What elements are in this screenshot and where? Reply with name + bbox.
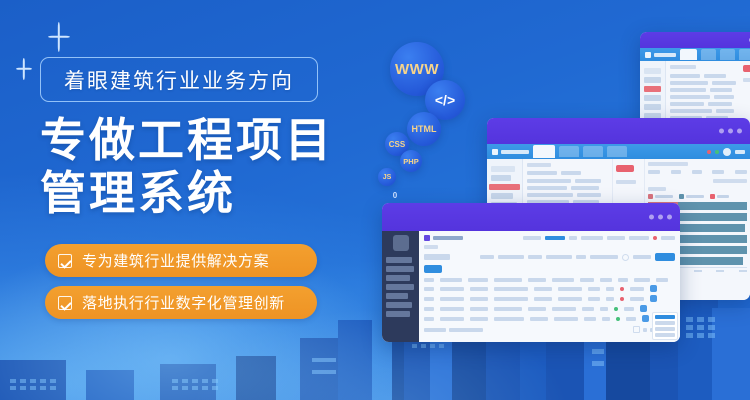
tab-2[interactable] (701, 49, 716, 60)
checkbox-checked-icon (58, 296, 72, 310)
app-logo-icon (492, 149, 529, 155)
checkbox-checked-icon (58, 254, 72, 268)
app-logo-icon (645, 52, 676, 58)
menu-item[interactable] (655, 333, 675, 337)
app-title-icon (424, 235, 463, 241)
table-back (670, 74, 736, 120)
sidebar-item[interactable] (386, 284, 414, 290)
tab-3[interactable] (583, 146, 603, 157)
app-logo-icon (393, 235, 409, 251)
table-row (424, 305, 675, 312)
sidebar-item[interactable] (386, 275, 410, 281)
tab-4[interactable] (607, 146, 627, 157)
sparkle-icon-2 (16, 58, 32, 80)
table-row (670, 95, 736, 99)
sidebar-item[interactable] (386, 311, 410, 317)
table-row (527, 186, 608, 190)
feature-pill-1[interactable]: 专为建筑行业提供解决方案 (45, 244, 317, 277)
window-titlebar-middle (487, 118, 750, 144)
feature-pill-1-label: 专为建筑行业提供解决方案 (82, 250, 269, 271)
window-controls-middle[interactable] (719, 129, 742, 134)
sidebar-item[interactable] (386, 257, 412, 263)
export-button[interactable] (616, 165, 634, 172)
sidebar-item-active[interactable] (644, 86, 661, 92)
promo-banner: 着眼建筑行业业务方向 专做工程项目 管理系统 专为建筑行业提供解决方案 落地执行… (0, 0, 750, 400)
feature-pill-2-label: 落地执行行业数字化管理创新 (82, 292, 285, 313)
data-table-front (424, 278, 675, 322)
page-title: 专做工程项目 管理系统 (40, 114, 334, 220)
notification-badge-icon (653, 236, 657, 240)
headline-line-1: 专做工程项目 (40, 114, 334, 167)
tab-4[interactable] (739, 49, 750, 60)
tab-3[interactable] (720, 49, 735, 60)
content-front (419, 231, 680, 342)
dashboard-window-front[interactable] (382, 203, 680, 342)
table-row (424, 285, 675, 292)
bubble-zero-label: 0 (393, 191, 397, 200)
table-header (424, 278, 675, 282)
sidebar-item[interactable] (386, 266, 414, 272)
menu-item[interactable] (655, 327, 675, 331)
page-box[interactable] (633, 326, 640, 333)
table-pagination[interactable] (424, 326, 675, 333)
user-name-label (735, 150, 745, 154)
bubble-html-label: HTML (412, 124, 437, 134)
sparkle-icon-1 (48, 22, 70, 52)
bubble-html: HTML (407, 112, 441, 146)
table-row (670, 81, 736, 85)
breadcrumb (424, 245, 438, 249)
bubble-zero: 0 (388, 188, 402, 202)
tab-2[interactable] (559, 146, 579, 157)
window-body-front (382, 231, 680, 342)
context-menu[interactable] (652, 312, 678, 340)
bubble-php: PHP (400, 150, 422, 172)
bubble-js-label: JS (383, 174, 392, 181)
table-row (424, 295, 675, 302)
table-row (527, 179, 608, 183)
table-row (670, 102, 736, 106)
menu-item[interactable] (655, 321, 675, 325)
window-titlebar-back (640, 32, 750, 48)
tab-active[interactable] (533, 145, 555, 158)
avatar[interactable] (723, 148, 731, 156)
add-button[interactable] (424, 265, 442, 273)
sidebar-item-active[interactable] (489, 184, 520, 190)
feature-pill-2[interactable]: 落地执行行业数字化管理创新 (45, 286, 317, 319)
sidebar-front[interactable] (382, 231, 419, 342)
app-header-middle (487, 144, 750, 159)
notification-badge-icon (707, 150, 711, 154)
table-row (527, 193, 608, 197)
primary-action-button[interactable] (743, 65, 750, 72)
window-titlebar-front (382, 203, 680, 231)
table-row (424, 315, 675, 322)
status-dot-icon (715, 150, 719, 154)
sidebar-item[interactable] (386, 302, 412, 308)
bubble-js: JS (378, 168, 396, 186)
chart-legend (648, 194, 747, 199)
tagline-text: 着眼建筑行业业务方向 (64, 65, 294, 95)
bubble-www-label: WWW (395, 61, 439, 78)
window-controls-front[interactable] (649, 215, 672, 220)
bubble-php-label: PHP (403, 157, 418, 166)
bubble-css-label: CSS (389, 140, 405, 149)
headline-line-2: 管理系统 (40, 167, 334, 220)
sidebar-item[interactable] (386, 293, 408, 299)
app-header-back (640, 48, 750, 61)
tab-active[interactable] (680, 49, 697, 60)
bubble-code-label: </> (435, 92, 455, 108)
search-button[interactable] (655, 253, 675, 261)
table-row (670, 88, 736, 92)
table-row (670, 109, 736, 113)
tagline-box: 着眼建筑行业业务方向 (40, 57, 318, 102)
menu-item-primary[interactable] (655, 315, 675, 319)
